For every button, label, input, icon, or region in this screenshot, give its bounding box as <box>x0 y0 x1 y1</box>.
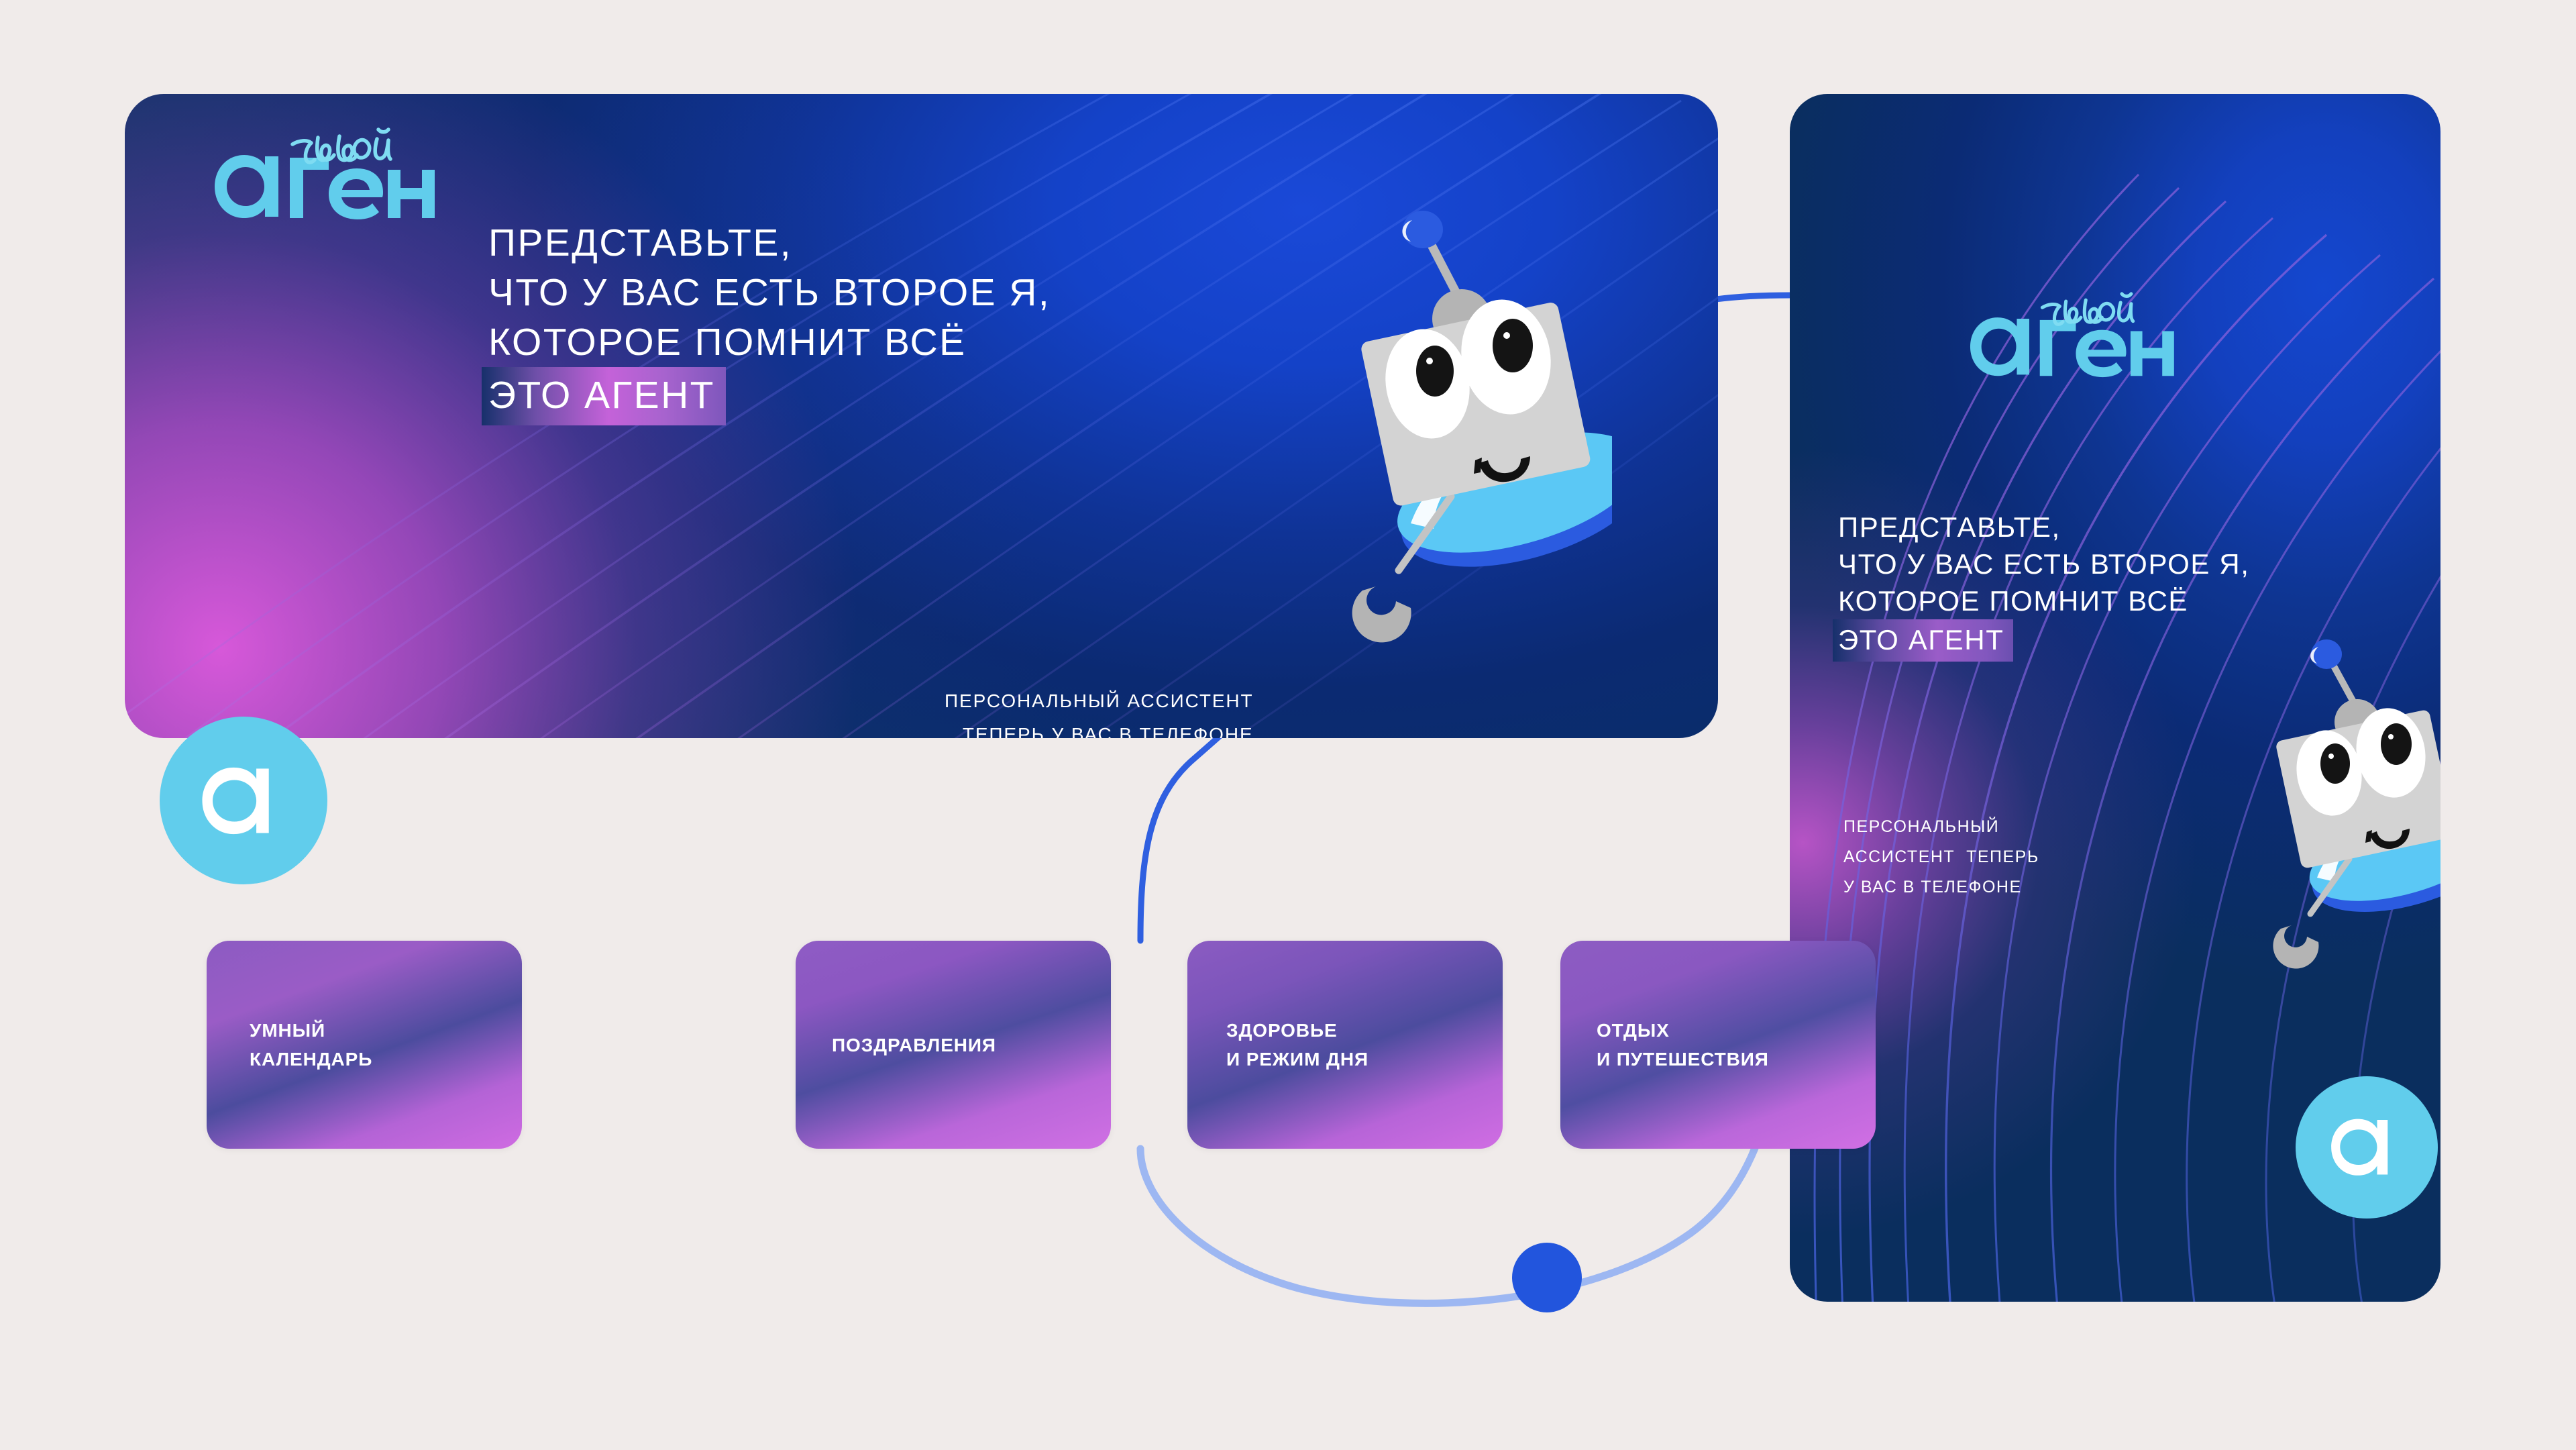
vertical-headline-l3: КОТОРОЕ ПОМНИТ ВСЁ <box>1838 585 2188 617</box>
hero-subtitle-l1: ПЕРСОНАЛЬНЫЙ АССИСТЕНТ <box>945 690 1254 711</box>
hero-headline-l1: ПРЕДСТАВЬТЕ, <box>488 221 792 264</box>
brand-logo <box>205 124 460 225</box>
vertical-subtitle: ПЕРСОНАЛЬНЫЙ АССИСТЕНТ ТЕПЕРЬ У ВАС В ТЕ… <box>1843 812 2039 902</box>
feature-card-rest-travel[interactable]: ОТДЫХ И ПУТЕШЕСТВИЯ <box>1560 941 1876 1149</box>
vertical-headline-highlight: ЭТО АГЕНТ <box>1833 619 2013 662</box>
poster-stage: ПРЕДСТАВЬТЕ, ЧТО У ВАС ЕСТЬ ВТОРОЕ Я, КО… <box>0 0 2576 1450</box>
robot-pupil-right <box>1493 319 1533 372</box>
vertical-headline: ПРЕДСТАВЬТЕ, ЧТО У ВАС ЕСТЬ ВТОРОЕ Я, КО… <box>1838 509 2249 662</box>
robot-pupil-left <box>1416 346 1454 397</box>
vertical-headline-l1: ПРЕДСТАВЬТЕ, <box>1838 511 2061 543</box>
vertical-subtitle-l3: У ВАС В ТЕЛЕФОНЕ <box>1843 878 2022 896</box>
hero-headline-l3: КОТОРОЕ ПОМНИТ ВСЁ <box>488 321 967 364</box>
feature-card-congratulations[interactable]: ПОЗДРАВЛЕНИЯ <box>796 941 1111 1149</box>
vertical-subtitle-l1: ПЕРСОНАЛЬНЫЙ <box>1843 817 1999 836</box>
badge-letter-a-icon <box>192 749 296 853</box>
robot-hand <box>2273 925 2318 969</box>
vertical-subtitle-l2: АССИСТЕНТ ТЕПЕРЬ <box>1843 847 2039 866</box>
connector-dot <box>1512 1243 1582 1312</box>
feature-card-smart-calendar[interactable]: УМНЫЙ КАЛЕНДАРЬ <box>207 941 522 1149</box>
feature-card-label: ПОЗДРАВЛЕНИЯ <box>796 1031 996 1059</box>
feature-card-label: ЗДОРОВЬЕ И РЕЖИМ ДНЯ <box>1187 1016 1368 1074</box>
hero-headline: ПРЕДСТАВЬТЕ, ЧТО У ВАС ЕСТЬ ВТОРОЕ Я, КО… <box>488 218 1051 425</box>
hero-subtitle: ПЕРСОНАЛЬНЫЙ АССИСТЕНТ ТЕПЕРЬ У ВАС В ТЕ… <box>945 684 1254 738</box>
feature-card-label: УМНЫЙ КАЛЕНДАРЬ <box>207 1016 372 1074</box>
hero-headline-l2: ЧТО У ВАС ЕСТЬ ВТОРОЕ Я, <box>488 271 1051 314</box>
robot-pupil-right <box>2381 723 2412 765</box>
vertical-headline-l2: ЧТО У ВАС ЕСТЬ ВТОРОЕ Я, <box>1838 548 2249 580</box>
robot-hand <box>1352 586 1411 642</box>
feature-card-health-routine[interactable]: ЗДОРОВЬЕ И РЕЖИМ ДНЯ <box>1187 941 1503 1149</box>
robot-mascot <box>1324 208 1612 651</box>
robot-antenna-ball <box>2311 639 2342 669</box>
robot-pupil-left <box>2320 743 2350 784</box>
robot-mascot <box>2249 637 2440 973</box>
hero-banner-card: ПРЕДСТАВЬТЕ, ЧТО У ВАС ЕСТЬ ВТОРОЕ Я, КО… <box>125 94 1718 738</box>
brand-logo <box>1962 289 2198 382</box>
logo-badge-circle <box>2296 1076 2438 1219</box>
logo-badge-circle <box>160 717 327 884</box>
feature-card-label: ОТДЫХ И ПУТЕШЕСТВИЯ <box>1560 1016 1769 1074</box>
badge-letter-a-icon <box>2322 1103 2410 1191</box>
robot-antenna-ball <box>1403 211 1443 248</box>
hero-subtitle-l2: ТЕПЕРЬ У ВАС В ТЕЛЕФОНЕ <box>963 724 1254 738</box>
hero-headline-highlight: ЭТО АГЕНТ <box>482 367 726 425</box>
